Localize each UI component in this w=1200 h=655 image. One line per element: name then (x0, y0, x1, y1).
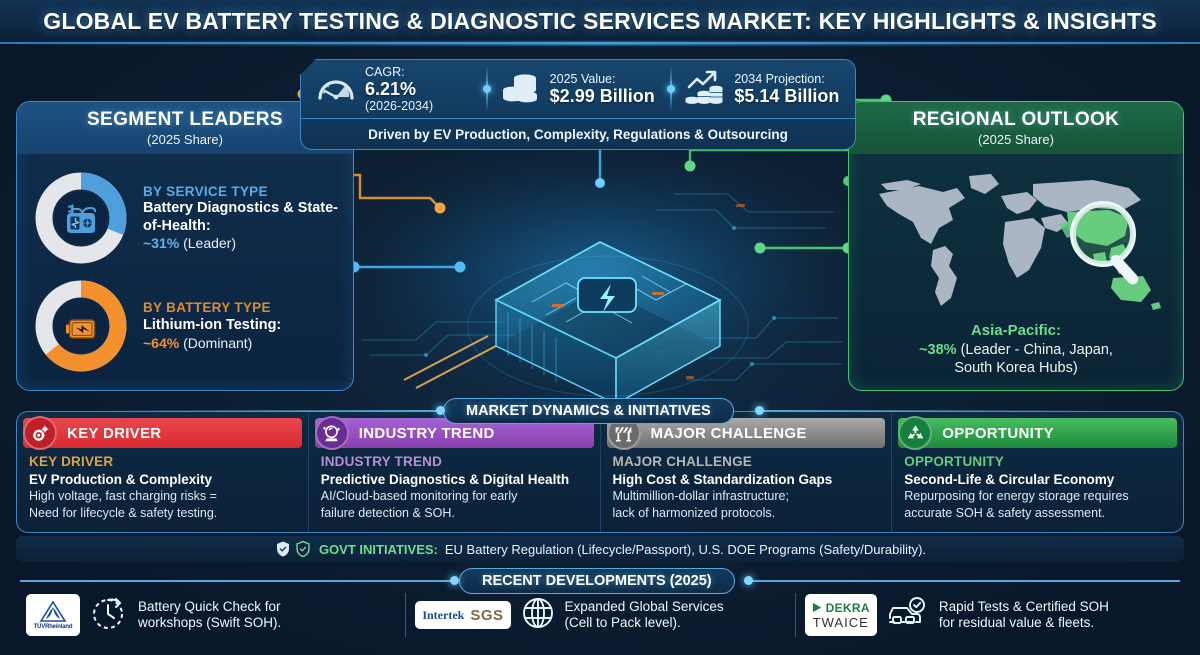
dynamics-card-key-driver[interactable]: KEY DRIVER KEY DRIVER EV Production & Co… (17, 412, 309, 532)
regional-leader-name: Asia-Pacific: (861, 322, 1171, 341)
kpi-label: CAGR: (365, 65, 433, 79)
regional-outlook-title: REGIONAL OUTLOOK (913, 109, 1120, 131)
page-title: GLOBAL EV BATTERY TESTING & DIAGNOSTIC S… (43, 8, 1156, 35)
chip-dot-recent-right (744, 576, 753, 585)
battery-type-text: BY BATTERY TYPE Lithium-ion Testing: ~64… (143, 300, 281, 351)
regional-leader-percent: ~38% (919, 342, 957, 358)
industry-trend-title: Predictive Diagnostics & Digital Health (321, 471, 590, 488)
segment-leaders-subtitle: (2025 Share) (147, 132, 223, 147)
car-check-icon (886, 596, 930, 635)
recent-intertek-text: Expanded Global Services (Cell to Pack l… (565, 599, 724, 632)
recent-dekra-text: Rapid Tests & Certified SOH for residual… (939, 599, 1109, 632)
recent-developments-chip: RECENT DEVELOPMENTS (2025) (459, 568, 735, 594)
driver-note-text: Driven by EV Production, Complexity, Reg… (368, 127, 788, 142)
sgs-logo-text: SGS (470, 607, 503, 624)
govt-initiatives-text: EU Battery Regulation (Lifecycle/Passpor… (445, 542, 926, 557)
service-type-donut (33, 170, 129, 266)
battery-type-kicker: BY BATTERY TYPE (143, 300, 281, 316)
title-bar: GLOBAL EV BATTERY TESTING & DIAGNOSTIC S… (0, 0, 1200, 44)
key-driver-desc-2: Need for lifecycle & safety testing. (29, 506, 298, 522)
chip-line-recent-left (20, 580, 452, 582)
market-dynamics-cards: KEY DRIVER KEY DRIVER EV Production & Co… (16, 411, 1184, 533)
recycle-icon (898, 416, 932, 450)
regional-outlook-subtitle: (2025 Share) (978, 132, 1054, 147)
industry-trend-desc-1: AI/Cloud-based monitoring for early (321, 489, 590, 505)
recent-dekra-line-1: Rapid Tests & Certified SOH (939, 599, 1109, 615)
chip-dot-dynamics-right (755, 406, 764, 415)
intertek-logo-text: Intertek (422, 608, 464, 623)
key-driver-kicker: KEY DRIVER (29, 453, 298, 470)
major-challenge-desc-1: Multimillion-dollar infrastructure; (613, 489, 882, 505)
tuv-rheinland-logo: TÜVRheinland (26, 594, 80, 636)
battery-type-percent: ~64% (143, 335, 179, 351)
regional-leader-detail: ~38% (Leader - China, Japan, (861, 341, 1171, 359)
key-driver-header-label: KEY DRIVER (67, 425, 161, 442)
recent-tuv-text: Battery Quick Check for workshops (Swift… (138, 599, 281, 632)
chip-line-dynamics-left (110, 410, 440, 412)
kpi-value: 6.21% (365, 79, 433, 99)
kpi-value: $2.99 Billion (550, 86, 655, 106)
major-challenge-desc-2: lack of harmonized protocols. (613, 506, 882, 522)
kpi-label: 2034 Projection: (734, 72, 839, 86)
regional-outlook-header: REGIONAL OUTLOOK (2025 Share) (849, 102, 1183, 154)
major-challenge-header-label: MAJOR CHALLENGE (651, 425, 807, 442)
govt-initiatives-label: GOVT INITIATIVES: (319, 542, 438, 557)
regional-leader-text: Asia-Pacific: ~38% (Leader - China, Japa… (861, 322, 1171, 377)
service-type-name: Battery Diagnostics & State-of-Health: (143, 200, 341, 235)
kpi-sub: (2026-2034) (365, 99, 433, 113)
service-type-value: ~31% (Leader) (143, 235, 341, 252)
intertek-sgs-logo: Intertek SGS (415, 601, 510, 629)
segment-leaders-title: SEGMENT LEADERS (87, 109, 283, 131)
kpi-label: 2025 Value: (550, 72, 655, 86)
industry-trend-header-label: INDUSTRY TREND (359, 425, 495, 442)
regional-outlook-body: Asia-Pacific: ~38% (Leader - China, Japa… (849, 154, 1183, 390)
chip-line-dynamics-right (760, 410, 1090, 412)
kpi-value: $5.14 Billion (734, 86, 839, 106)
battery-type-name: Lithium-ion Testing: (143, 317, 281, 335)
growth-chart-coins-icon (684, 68, 726, 110)
world-map-magnifier-icon (861, 166, 1171, 318)
opportunity-kicker: OPPORTUNITY (904, 453, 1173, 470)
crystal-ball-icon (315, 416, 349, 450)
segment-item-service-type: BY SERVICE TYPE Battery Diagnostics & St… (29, 164, 341, 272)
recent-intertek-line-1: Expanded Global Services (565, 599, 724, 615)
service-type-name-text: Battery Diagnostics & State-of-Health: (143, 200, 338, 234)
dynamics-card-industry-trend[interactable]: INDUSTRY TREND INDUSTRY TREND Predictive… (309, 412, 601, 532)
recent-tuv-line-1: Battery Quick Check for (138, 599, 281, 615)
opportunity-header-label: OPPORTUNITY (942, 425, 1054, 442)
opportunity-header-bar: OPPORTUNITY (898, 418, 1177, 448)
chip-dot-dynamics-left (436, 406, 445, 415)
recent-tuv-line-2: workshops (Swift SOH). (138, 615, 281, 631)
key-driver-header-bar: KEY DRIVER (23, 418, 302, 448)
service-type-percent: ~31% (143, 235, 179, 251)
ev-battery-illustration (356, 150, 844, 400)
kpi-strip: CAGR: 6.21% (2026-2034) (300, 59, 856, 119)
service-type-kicker: BY SERVICE TYPE (143, 184, 341, 200)
chip-dot-recent-left (450, 576, 459, 585)
major-challenge-title: High Cost & Standardization Gaps (613, 471, 882, 488)
shield-check-icon (274, 540, 312, 558)
infographic-root: GLOBAL EV BATTERY TESTING & DIAGNOSTIC S… (0, 0, 1200, 655)
battery-type-suffix: (Dominant) (179, 335, 252, 351)
regional-leader-detail-1: (Leader - China, Japan, (957, 342, 1113, 358)
dynamics-card-major-challenge[interactable]: MAJOR CHALLENGE MAJOR CHALLENGE High Cos… (601, 412, 893, 532)
chip-line-recent-right (750, 580, 1180, 582)
dekra-logo-text: DEKRA (826, 601, 870, 615)
recent-intertek-line-2: (Cell to Pack level). (565, 615, 724, 631)
regional-leader-detail-2: South Korea Hubs) (861, 359, 1171, 377)
kpi-2025-value: 2025 Value: $2.99 Billion (486, 60, 671, 118)
twaice-logo-text: TWAICE (813, 615, 869, 630)
battery-tester-icon (55, 192, 107, 244)
industry-trend-body: INDUSTRY TREND Predictive Diagnostics & … (309, 448, 600, 522)
service-type-text: BY SERVICE TYPE Battery Diagnostics & St… (143, 184, 341, 253)
industry-trend-kicker: INDUSTRY TREND (321, 453, 590, 470)
service-type-suffix: (Leader) (179, 235, 236, 251)
kpi-cagr: CAGR: 6.21% (2026-2034) (301, 60, 486, 118)
speedometer-icon (315, 68, 357, 110)
opportunity-body: OPPORTUNITY Second-Life & Circular Econo… (892, 448, 1183, 522)
opportunity-desc-2: accurate SOH & safety assessment. (904, 506, 1173, 522)
recent-item-dekra-twaice: DEKRA TWAICE Rapid Tests & Certified SOH… (795, 583, 1184, 647)
recent-dekra-line-2: for residual value & fleets. (939, 615, 1109, 631)
battery-type-value: ~64% (Dominant) (143, 335, 281, 352)
industry-trend-desc-2: failure detection & SOH. (321, 506, 590, 522)
key-driver-desc-1: High voltage, fast charging risks = (29, 489, 298, 505)
clock-arrow-icon (89, 593, 129, 638)
key-driver-title: EV Production & Complexity (29, 471, 298, 488)
gears-icon (23, 416, 57, 450)
opportunity-title: Second-Life & Circular Economy (904, 471, 1173, 488)
key-driver-body: KEY DRIVER EV Production & Complexity Hi… (17, 448, 308, 522)
battery-type-donut (33, 278, 129, 374)
dekra-twaice-logo: DEKRA TWAICE (805, 594, 877, 636)
globe-icon (520, 595, 556, 636)
coins-stack-icon (500, 68, 542, 110)
kpi-2034-projection: 2034 Projection: $5.14 Billion (670, 60, 855, 118)
dynamics-card-opportunity[interactable]: OPPORTUNITY OPPORTUNITY Second-Life & Ci… (892, 412, 1183, 532)
market-dynamics-chip: MARKET DYNAMICS & INITIATIVES (443, 398, 734, 424)
govt-initiatives-bar: GOVT INITIATIVES: EU Battery Regulation … (16, 536, 1184, 562)
regional-outlook-panel: REGIONAL OUTLOOK (2025 Share) (848, 101, 1184, 391)
opportunity-desc-1: Repurposing for energy storage requires (904, 489, 1173, 505)
segment-item-battery-type: BY BATTERY TYPE Lithium-ion Testing: ~64… (29, 272, 341, 380)
kpi-driver-note: Driven by EV Production, Complexity, Reg… (300, 119, 856, 150)
battery-bolt-icon (55, 300, 107, 352)
tuv-logo-text: TÜVRheinland (34, 624, 73, 630)
major-challenge-kicker: MAJOR CHALLENGE (613, 453, 882, 470)
recent-item-tuv: TÜVRheinland Battery Quick Check for wor… (16, 583, 405, 647)
major-challenge-body: MAJOR CHALLENGE High Cost & Standardizat… (601, 448, 892, 522)
segment-leaders-body: BY SERVICE TYPE Battery Diagnostics & St… (17, 154, 353, 390)
